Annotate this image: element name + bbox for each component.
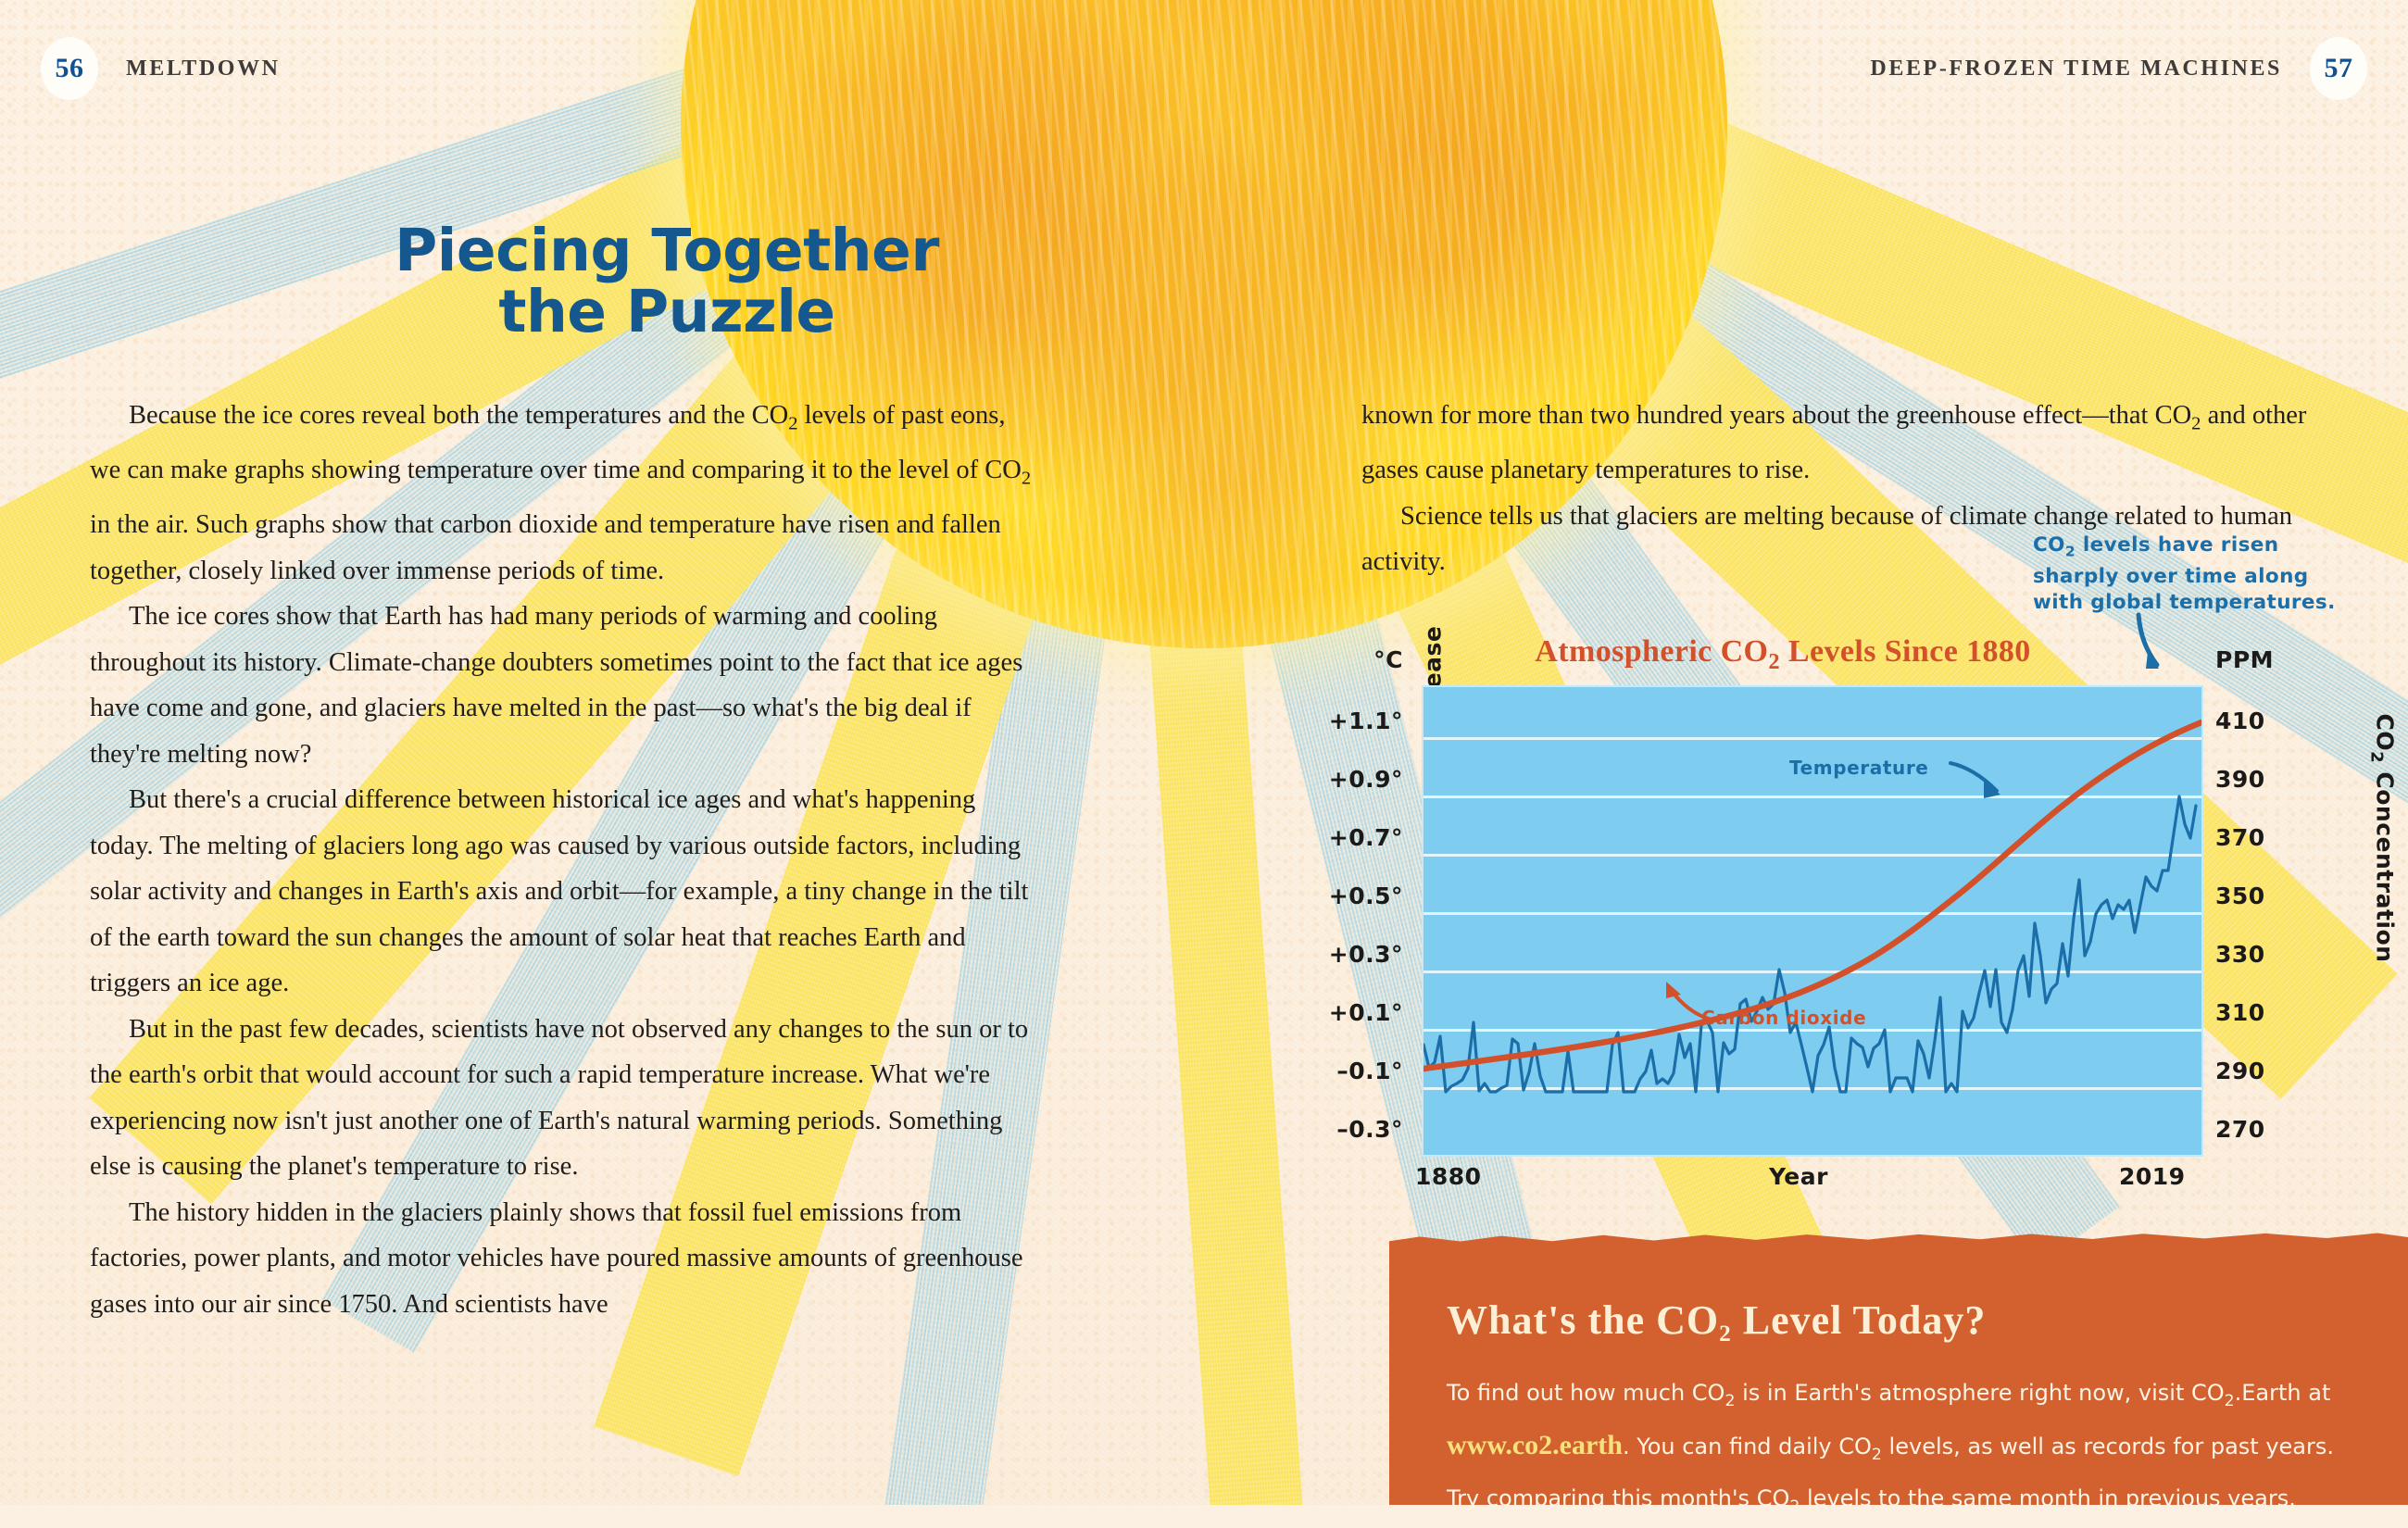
carbon-dioxide-annotation-arrow-icon — [1657, 974, 1722, 1030]
temperature-annotation-arrow-icon — [1947, 754, 2021, 809]
page-title-line-1: Piecing Together — [343, 220, 991, 282]
paragraph: But there's a crucial difference between… — [90, 777, 1042, 1007]
left-axis-tick: +0.3° — [1294, 941, 1403, 968]
paragraph: known for more than two hundred years ab… — [1361, 393, 2325, 494]
right-axis-tick: 330 — [2215, 941, 2325, 968]
running-title-left: MELTDOWN — [126, 56, 281, 81]
chart-plot-area: Temperature Carbon dioxide — [1422, 685, 2203, 1157]
handwritten-annotation: CO2 levels have risen sharply over time … — [2033, 532, 2348, 616]
page-title: Piecing Together the Puzzle — [343, 220, 991, 342]
page-number-right: 57 — [2310, 37, 2367, 100]
running-head-right: DEEP-FROZEN TIME MACHINES 57 — [1870, 37, 2367, 100]
right-axis-tick: 310 — [2215, 999, 2325, 1026]
right-axis-tick: 350 — [2215, 883, 2325, 909]
temperature-line — [1423, 796, 2196, 1092]
x-axis-tick-end: 2019 — [2119, 1163, 2186, 1190]
running-head-left: 56 MELTDOWN — [41, 37, 281, 100]
right-axis-tick: 270 — [2215, 1116, 2325, 1143]
page-title-line-2: the Puzzle — [343, 282, 991, 343]
left-axis-unit: °C — [1294, 646, 1403, 673]
right-axis-tick: 290 — [2215, 1058, 2325, 1084]
chart-figure: Atmospheric CO2 Levels Since 1880 °C +1.… — [1297, 611, 2343, 1232]
left-axis-tick: +1.1° — [1294, 708, 1403, 734]
paragraph: The history hidden in the glaciers plain… — [90, 1190, 1042, 1328]
right-axis-tick: 370 — [2215, 824, 2325, 851]
left-axis-tick: +0.7° — [1294, 824, 1403, 851]
right-axis-tick: 410 — [2215, 708, 2325, 734]
callout-box: What's the CO2 Level Today? To find out … — [1389, 1243, 2408, 1505]
x-axis-tick-start: 1880 — [1415, 1163, 1482, 1190]
right-axis-unit: PPM — [2215, 646, 2325, 673]
body-column-left: Because the ice cores reveal both the te… — [90, 393, 1042, 1327]
callout-url-link[interactable]: www.co2.earth — [1447, 1430, 1623, 1460]
paragraph: Because the ice cores reveal both the te… — [90, 393, 1042, 594]
chart-title: Atmospheric CO2 Levels Since 1880 — [1459, 634, 2107, 675]
x-axis-title: Year — [1769, 1163, 1828, 1190]
paragraph: But in the past few decades, scientists … — [90, 1007, 1042, 1190]
callout-heading: What's the CO2 Level Today? — [1447, 1296, 2351, 1347]
right-axis-tick: 390 — [2215, 766, 2325, 793]
right-axis-title: CO2 Concentration — [2366, 714, 2398, 963]
left-axis-tick: +0.9° — [1294, 766, 1403, 793]
left-axis-tick: –0.3° — [1294, 1116, 1403, 1143]
paragraph: The ice cores show that Earth has had ma… — [90, 594, 1042, 777]
carbon-dioxide-annotation-label: Carbon dioxide — [1701, 1007, 1866, 1029]
running-title-right: DEEP-FROZEN TIME MACHINES — [1870, 56, 2282, 81]
page-number-left: 56 — [41, 37, 98, 100]
left-axis-tick: –0.1° — [1294, 1058, 1403, 1084]
left-axis-tick: +0.5° — [1294, 883, 1403, 909]
annotation-arrow-icon — [2126, 611, 2190, 685]
temperature-annotation-label: Temperature — [1789, 757, 1928, 779]
left-axis-tick: +0.1° — [1294, 999, 1403, 1026]
